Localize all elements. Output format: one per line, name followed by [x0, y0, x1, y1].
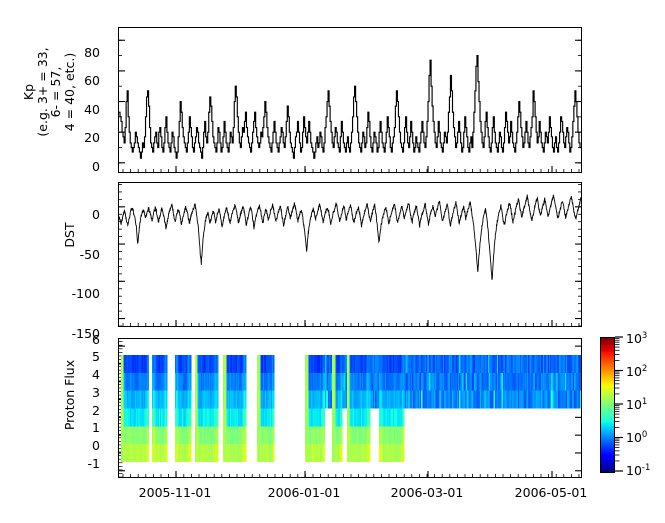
- dst-plot-area: [119, 183, 581, 326]
- cb-mantissa-1e3: 10: [626, 331, 642, 346]
- flux-panel: [118, 338, 582, 478]
- kp-axis-label-line1: Kp: [22, 12, 36, 172]
- flux-ytick-6: 6: [72, 332, 100, 347]
- kp-ytick-20: 20: [72, 130, 100, 145]
- cb-mantissa-1e0: 10: [626, 430, 642, 445]
- cb-label-1e1: 101: [626, 397, 647, 412]
- dst-ytick-m100: -100: [58, 286, 100, 301]
- kp-plot-area: [119, 28, 581, 172]
- proton-flux-colorbar: [600, 337, 615, 473]
- xtick-2006-05-01: 2006-05-01: [486, 485, 616, 500]
- colorbar-ticks: [615, 333, 625, 477]
- flux-ytick-5: 5: [72, 349, 100, 364]
- dst-ytick-m50: -50: [58, 247, 100, 262]
- cb-label-1e0: 100: [626, 430, 647, 445]
- cb-mantissa-1em1: 10: [626, 463, 642, 478]
- xtick-2005-11-01: 2005-11-01: [110, 485, 240, 500]
- cb-exponent-1e3: 3: [642, 331, 647, 341]
- flux-ytick-m1: -1: [66, 456, 100, 471]
- flux-heatmap-area: [119, 339, 581, 477]
- colorbar-gradient: [601, 338, 614, 472]
- kp-ytick-0: 0: [72, 159, 100, 174]
- kp-axis-label-line3: 6- = 57,: [49, 12, 63, 172]
- cb-exponent-1e0: 0: [642, 430, 647, 440]
- cb-mantissa-1e2: 10: [626, 364, 642, 379]
- flux-ytick-0: 0: [72, 438, 100, 453]
- flux-ytick-4: 4: [72, 367, 100, 382]
- xtick-2006-01-01: 2006-01-01: [239, 485, 369, 500]
- kp-ytick-60: 60: [72, 73, 100, 88]
- flux-ytick-2: 2: [72, 403, 100, 418]
- xtick-2006-03-01: 2006-03-01: [362, 485, 492, 500]
- kp-axis-label-line2: (e.g. 3+ = 33,: [36, 12, 50, 172]
- cb-mantissa-1e1: 10: [626, 397, 642, 412]
- kp-panel: [118, 27, 582, 173]
- cb-label-1e2: 102: [626, 364, 647, 379]
- cb-label-1em1: 10-1: [626, 463, 650, 478]
- dst-panel: [118, 182, 582, 327]
- dst-ytick-0: 0: [58, 207, 100, 222]
- kp-axis-label-line4: 4 = 40, etc.): [63, 12, 77, 172]
- cb-exponent-1e2: 2: [642, 364, 647, 374]
- cb-exponent-1em1: -1: [642, 463, 650, 473]
- kp-ytick-40: 40: [72, 102, 100, 117]
- kp-ytick-80: 80: [72, 45, 100, 60]
- flux-ytick-1: 1: [72, 420, 100, 435]
- figure-canvas: Kp (e.g. 3+ = 33, 6- = 57, 4 = 40, etc.)…: [0, 0, 665, 523]
- cb-exponent-1e1: 1: [642, 397, 647, 407]
- flux-ytick-3: 3: [72, 385, 100, 400]
- kp-axis-label: Kp (e.g. 3+ = 33, 6- = 57, 4 = 40, etc.): [22, 12, 76, 172]
- cb-label-1e3: 103: [626, 331, 647, 346]
